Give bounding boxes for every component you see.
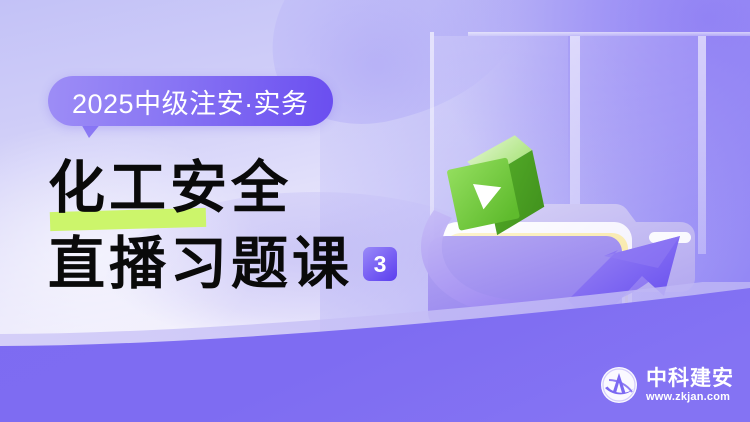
- episode-number-badge: 3: [363, 247, 397, 281]
- circle-person-swoosh-logo-icon: [600, 366, 638, 404]
- brand-text-block: 中科建安 www.zkjan.com: [646, 368, 734, 403]
- brand-url: www.zkjan.com: [646, 391, 734, 403]
- window-bar-top: [468, 32, 750, 36]
- poster-subtitle: 直播习题课: [48, 226, 353, 302]
- brand-name: 中科建安: [646, 368, 734, 390]
- poster-title-block: 化工安全 直播习题课 3: [48, 150, 397, 302]
- page-title: 化工安全: [48, 150, 397, 226]
- course-poster: 2025中级注安·实务 化工安全 直播习题课 3 中科建安 www.zkjan.…: [0, 0, 750, 422]
- course-category-label: 2025中级注安·实务: [72, 82, 309, 121]
- brand-logo[interactable]: 中科建安 www.zkjan.com: [600, 366, 734, 404]
- course-category-badge[interactable]: 2025中级注安·实务: [48, 76, 333, 126]
- poster-subtitle-row: 直播习题课 3: [48, 226, 397, 302]
